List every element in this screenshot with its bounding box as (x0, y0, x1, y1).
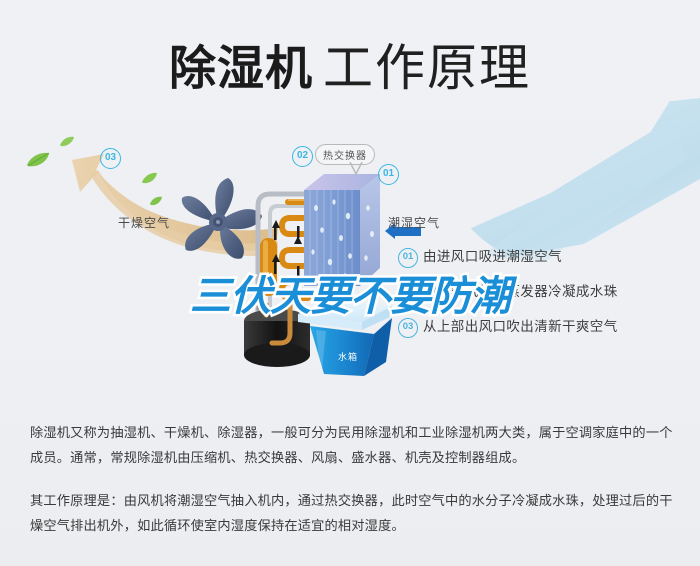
infographic-page: 除湿机工作原理 (0, 0, 700, 566)
water-tank-label: 水箱 (318, 350, 378, 363)
page-title-part1: 除湿机 (169, 42, 313, 97)
body-copy: 除湿机又称为抽湿机、干燥机、除湿器，一般可分为民用除湿机和工业除湿机两大类，属于… (30, 420, 675, 556)
page-title-part2: 工作原理 (323, 40, 531, 96)
dry-air-label: 干燥空气 (118, 214, 170, 231)
badge-01-humid-air: 01 (378, 164, 399, 185)
leaf-icon (142, 172, 157, 184)
badge-02-heat-exchanger: 02 (292, 146, 313, 167)
watermark-text: 三伏天要不要防潮 (0, 262, 700, 322)
leaf-icon (150, 196, 162, 206)
heat-exchanger-callout: 热交换器 (315, 144, 375, 165)
humid-air-label: 潮湿空气 (388, 214, 440, 231)
body-paragraph-2: 其工作原理是：由风机将潮湿空气抽入机内，通过热交换器，此时空气中的水分子冷凝成水… (30, 488, 675, 538)
badge-03-dry-air: 03 (100, 148, 121, 169)
leaf-icon (26, 152, 50, 168)
leaf-icon (60, 136, 74, 147)
callout-tail-icon (348, 162, 364, 178)
page-title: 除湿机工作原理 (0, 28, 700, 100)
body-paragraph-1: 除湿机又称为抽湿机、干燥机、除湿器，一般可分为民用除湿机和工业除湿机两大类，属于… (30, 420, 675, 470)
